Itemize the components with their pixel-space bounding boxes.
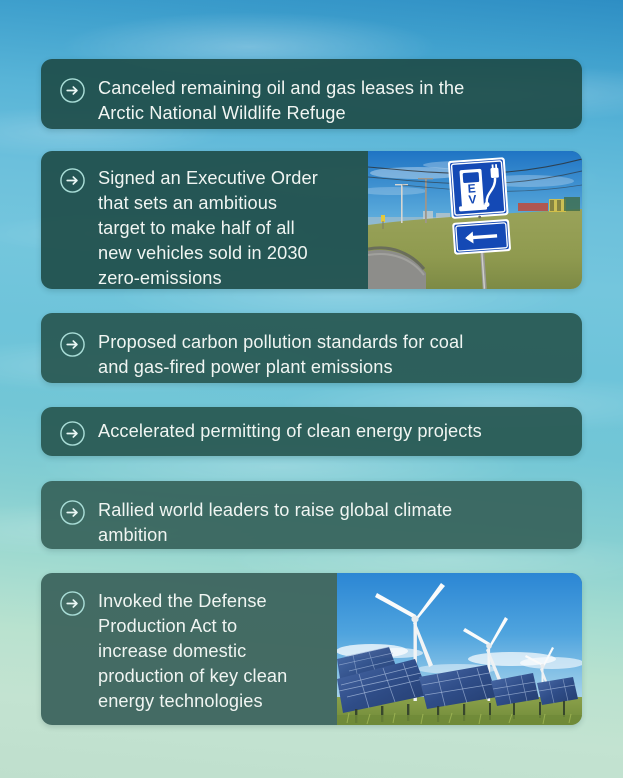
card-text: Signed an Executive Order that sets an a… <box>98 165 318 289</box>
card-text: Proposed carbon pollution standards for … <box>98 329 463 380</box>
card-text: Canceled remaining oil and gas leases in… <box>98 75 464 126</box>
card-body: Accelerated permitting of clean energy p… <box>41 407 582 456</box>
ev-charging-station-road-sign-photo: E V <box>368 151 582 289</box>
achievement-card-list: Canceled remaining oil and gas leases in… <box>0 0 623 778</box>
circle-arrow-right-icon <box>59 420 86 447</box>
card-body: Proposed carbon pollution standards for … <box>41 313 582 383</box>
card-text: Invoked the Defense Production Act to in… <box>98 588 287 714</box>
circle-arrow-right-icon <box>59 167 86 194</box>
circle-arrow-right-icon <box>59 499 86 526</box>
achievement-card[interactable]: Signed an Executive Order that sets an a… <box>41 151 582 289</box>
solar-panel-array-with-wind-turbines-photo <box>337 573 582 725</box>
circle-arrow-right-icon <box>59 331 86 358</box>
card-text: Rallied world leaders to raise global cl… <box>98 497 452 548</box>
achievement-card[interactable]: Canceled remaining oil and gas leases in… <box>41 59 582 129</box>
circle-arrow-right-icon <box>59 590 86 617</box>
card-text: Accelerated permitting of clean energy p… <box>98 418 482 444</box>
card-body: Canceled remaining oil and gas leases in… <box>41 59 582 129</box>
card-body: Rallied world leaders to raise global cl… <box>41 481 582 549</box>
card-body: Invoked the Defense Production Act to in… <box>41 573 337 725</box>
card-body: Signed an Executive Order that sets an a… <box>41 151 368 289</box>
achievement-card[interactable]: Invoked the Defense Production Act to in… <box>41 573 582 725</box>
svg-text:V: V <box>468 192 477 207</box>
achievement-card[interactable]: Proposed carbon pollution standards for … <box>41 313 582 383</box>
achievement-card[interactable]: Accelerated permitting of clean energy p… <box>41 407 582 456</box>
circle-arrow-right-icon <box>59 77 86 104</box>
achievement-card[interactable]: Rallied world leaders to raise global cl… <box>41 481 582 549</box>
